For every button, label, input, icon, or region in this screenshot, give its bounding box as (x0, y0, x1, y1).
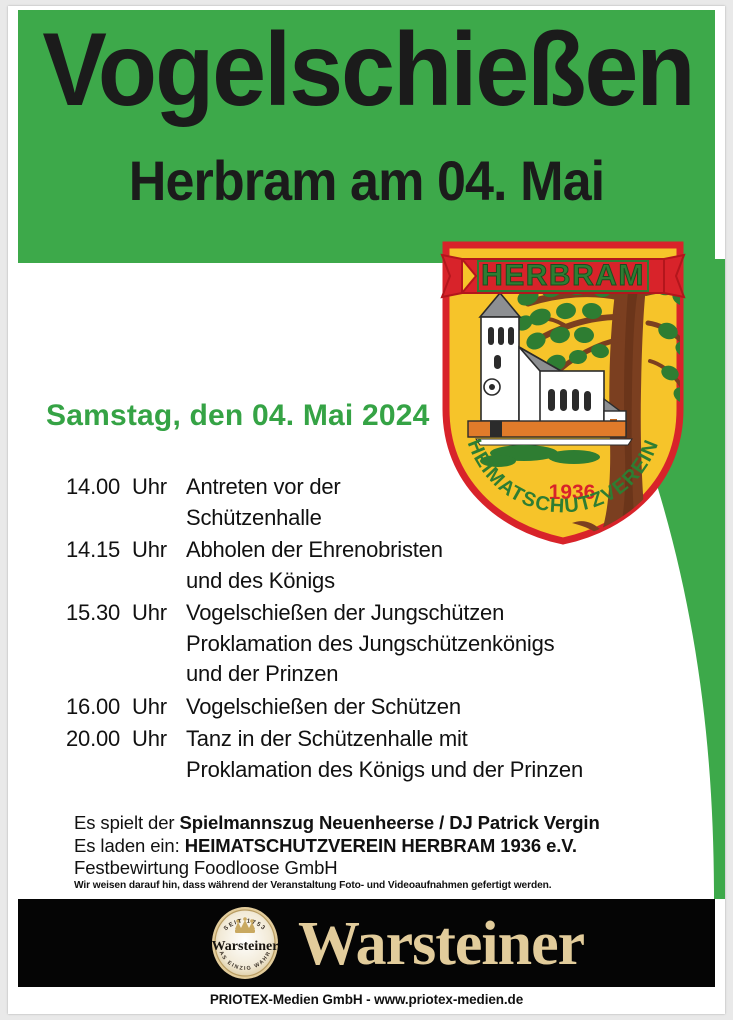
schedule-row: 15.30UhrVogelschießen der JungschützenPr… (66, 598, 626, 690)
schedule-description: Tanz in der Schützenhalle mitProklamatio… (186, 724, 626, 785)
schedule-description-line: Proklamation des Königs und der Prinzen (186, 755, 626, 786)
credits-line-1-bold: Spielmannszug Neuenheerse / DJ Patrick V… (180, 812, 600, 833)
schedule-description: Abholen der Ehrenobristenund des Königs (186, 535, 626, 596)
schedule-time: 16.00 (66, 692, 132, 723)
sponsor-band: SEIT 1753 Warsteiner DAS EINZIG WAHRE Wa… (18, 899, 715, 987)
schedule-row: 20.00UhrTanz in der Schützenhalle mitPro… (66, 724, 626, 785)
schedule-time-unit: Uhr (132, 598, 186, 629)
schedule-description-line: Antreten vor der (186, 472, 626, 503)
schedule-description-line: Vogelschießen der Schützen (186, 692, 626, 723)
poster-header-band: Vogelschießen Herbram am 04. Mai (18, 10, 715, 263)
credits-line-1: Es spielt der Spielmannszug Neuenheerse … (74, 812, 600, 835)
schedule-time: 14.00 (66, 472, 132, 503)
schedule-description: Vogelschießen der JungschützenProklamati… (186, 598, 626, 690)
poster-sheet: Vogelschießen Herbram am 04. Mai (8, 6, 725, 1014)
schedule-time-unit: Uhr (132, 692, 186, 723)
schedule-time-unit: Uhr (132, 472, 186, 503)
crest-banner-text: HERBRAM (481, 259, 645, 292)
photo-video-disclaimer: Wir weisen darauf hin, dass während der … (74, 880, 552, 891)
schedule-description-line: Proklamation des Jungschützenkönigs (186, 629, 626, 660)
schedule-time: 20.00 (66, 724, 132, 755)
credits-line-2: Es laden ein: HEIMATSCHUTZVEREIN HERBRAM… (74, 835, 600, 858)
event-schedule-list: 14.00UhrAntreten vor derSchützenhalle14.… (66, 472, 626, 787)
schedule-description: Antreten vor derSchützenhalle (186, 472, 626, 533)
schedule-description-line: und des Königs (186, 566, 626, 597)
credits-line-3: Festbewirtung Foodloose GmbH (74, 857, 600, 880)
schedule-description: Vogelschießen der Schützen (186, 692, 626, 723)
schedule-row: 14.15UhrAbholen der Ehrenobristenund des… (66, 535, 626, 596)
schedule-description-line: Abholen der Ehrenobristen (186, 535, 626, 566)
schedule-description-line: und der Prinzen (186, 659, 626, 690)
warsteiner-brand-text: Warsteiner (298, 910, 585, 978)
schedule-time-unit: Uhr (132, 535, 186, 566)
schedule-time: 14.15 (66, 535, 132, 566)
schedule-time-unit: Uhr (132, 724, 186, 755)
poster-page: Vogelschießen Herbram am 04. Mai (0, 0, 733, 1020)
schedule-row: 16.00UhrVogelschießen der Schützen (66, 692, 626, 723)
schedule-description-line: Tanz in der Schützenhalle mit (186, 724, 626, 755)
page-subtitle: Herbram am 04. Mai (42, 153, 690, 209)
credits-block: Es spielt der Spielmannszug Neuenheerse … (74, 812, 600, 880)
schedule-row: 14.00UhrAntreten vor derSchützenhalle (66, 472, 626, 533)
schedule-description-line: Vogelschießen der Jungschützen (186, 598, 626, 629)
credits-line-1-prefix: Es spielt der (74, 812, 180, 833)
page-title: Vogelschießen (42, 20, 690, 122)
warsteiner-wordmark: Warsteiner (296, 904, 596, 982)
credits-line-2-bold: HEIMATSCHUTZVEREIN HERBRAM 1936 e.V. (185, 835, 577, 856)
schedule-description-line: Schützenhalle (186, 503, 626, 534)
event-date-heading: Samstag, den 04. Mai 2024 (46, 399, 430, 433)
credits-line-2-prefix: Es laden ein: (74, 835, 185, 856)
warsteiner-seal-logo: SEIT 1753 Warsteiner DAS EINZIG WAHRE (205, 905, 285, 981)
schedule-time: 15.30 (66, 598, 132, 629)
printer-footer: PRIOTEX-Medien GmbH - www.priotex-medien… (8, 992, 725, 1007)
